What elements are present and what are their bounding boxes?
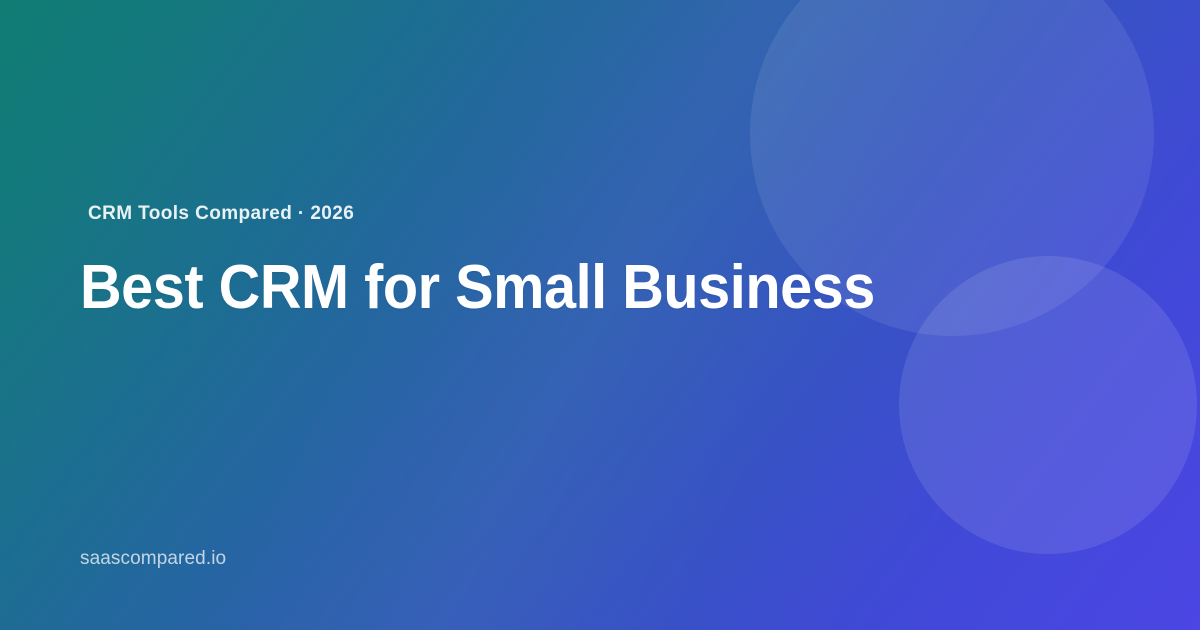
card-content: CRM Tools Compared · 2026 Best CRM for S… xyxy=(80,0,1120,630)
page-title: Best CRM for Small Business xyxy=(80,256,875,320)
site-domain-label: saascompared.io xyxy=(80,548,226,570)
social-share-card: CRM Tools Compared · 2026 Best CRM for S… xyxy=(0,0,1200,630)
eyebrow-label: CRM Tools Compared · 2026 xyxy=(88,203,354,225)
